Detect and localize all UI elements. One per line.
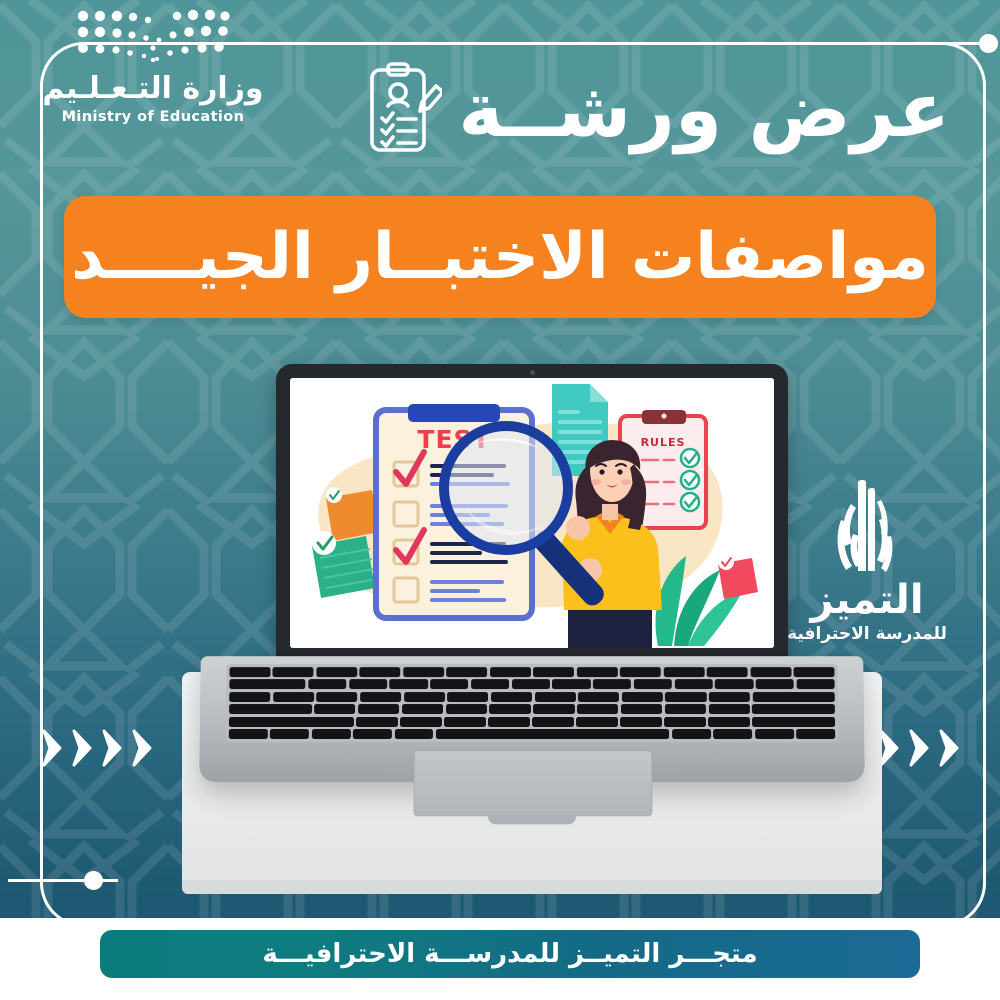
key-caps	[752, 704, 835, 714]
key	[663, 667, 704, 677]
key	[552, 680, 590, 690]
key	[665, 704, 706, 714]
key	[577, 667, 618, 677]
laptop-lid: TEST	[276, 364, 788, 662]
key-shift-right	[229, 717, 354, 727]
main-title: مواصفات الاختبــار الجيــــد	[71, 225, 929, 289]
key	[709, 692, 750, 702]
key	[621, 704, 662, 714]
key-enter	[229, 704, 312, 714]
clipboard-checklist-pencil-icon	[360, 62, 442, 158]
chevron-right-icon	[100, 728, 127, 768]
key	[489, 704, 530, 714]
key	[349, 680, 387, 690]
store-banner: متجـــر التميــز للمدرســـة الاحترافيـــ…	[100, 930, 920, 978]
key	[512, 680, 550, 690]
ministry-of-education-logo: وزارة التـعـلـيم Ministry of Education	[38, 8, 268, 125]
key-ctrl	[755, 729, 794, 739]
key	[620, 717, 662, 727]
key	[674, 680, 712, 690]
keyboard-row	[229, 692, 835, 702]
test-review-illustration: TEST	[290, 378, 774, 648]
chevron-right-icon	[70, 728, 97, 768]
header-title-group: عرض ورشــة	[360, 62, 950, 158]
key	[358, 704, 399, 714]
key	[308, 680, 346, 690]
key	[360, 667, 401, 677]
store-banner-text: متجـــر التميــز للمدرســـة الاحترافيـــ…	[262, 941, 757, 967]
key-tab	[752, 692, 834, 702]
keyboard-row	[229, 717, 835, 727]
key-cmd	[672, 729, 711, 739]
key	[533, 704, 574, 714]
key	[471, 680, 509, 690]
laptop-mockup: TEST	[200, 364, 864, 834]
key	[578, 692, 619, 702]
chevron-right-icon	[40, 728, 67, 768]
key-space	[436, 729, 670, 739]
key	[316, 667, 357, 677]
webcam-icon	[530, 370, 535, 375]
key	[273, 692, 314, 702]
page-title: عرض ورشــة	[458, 72, 950, 148]
key	[430, 680, 468, 690]
key	[273, 667, 314, 677]
key-fn	[796, 729, 835, 739]
frame-line-top-right	[872, 42, 992, 45]
key	[229, 667, 270, 677]
key	[664, 717, 706, 727]
key	[794, 667, 835, 677]
key	[447, 692, 488, 702]
keyboard-row	[229, 704, 835, 714]
key	[404, 692, 445, 702]
laptop-keyboard	[226, 664, 839, 742]
key	[577, 704, 618, 714]
key	[708, 704, 749, 714]
key-alt	[713, 729, 752, 739]
laptop-base	[199, 656, 865, 782]
key	[620, 667, 661, 677]
key	[756, 680, 794, 690]
svg-text:RULES: RULES	[641, 436, 686, 449]
laptop-front-notch	[488, 816, 576, 824]
moe-arabic-name: وزارة التـعـلـيم	[38, 74, 268, 104]
key-cmd-right	[394, 729, 433, 739]
key-shift-left	[752, 717, 835, 727]
key	[356, 717, 398, 727]
key	[707, 667, 748, 677]
key	[488, 717, 530, 727]
key	[593, 680, 631, 690]
frame-dot-bottom-left	[84, 871, 103, 890]
key	[229, 692, 270, 702]
key	[750, 667, 791, 677]
key-arrow-up	[270, 729, 309, 739]
key	[390, 680, 428, 690]
key	[665, 692, 706, 702]
key	[715, 680, 753, 690]
main-title-banner: مواصفات الاختبــار الجيــــد	[64, 196, 936, 318]
chevron-right-icon	[937, 728, 964, 768]
poster-canvas: وزارة التـعـلـيم Ministry of Education ع…	[0, 0, 1000, 1000]
key-arrow-left	[312, 729, 351, 739]
key	[490, 667, 531, 677]
key	[402, 704, 443, 714]
key	[535, 692, 576, 702]
ministry-of-education-dotted-emblem	[73, 8, 233, 70]
chevron-group-left	[40, 728, 157, 768]
key	[314, 704, 355, 714]
key-backspace	[229, 680, 305, 690]
key	[444, 717, 486, 727]
keyboard-row	[229, 729, 835, 739]
key	[403, 667, 444, 677]
key	[360, 692, 401, 702]
frame-dot-top-right	[979, 34, 998, 53]
chevron-right-icon	[130, 728, 157, 768]
key-alt-right	[353, 729, 392, 739]
key	[533, 667, 574, 677]
key	[400, 717, 442, 727]
key-arrow-right	[229, 729, 268, 739]
keyboard-row	[229, 667, 834, 677]
chevron-right-icon	[907, 728, 934, 768]
key	[576, 717, 618, 727]
key	[446, 704, 487, 714]
keyboard-row	[229, 680, 834, 690]
key	[491, 692, 532, 702]
key	[796, 680, 834, 690]
key	[634, 680, 672, 690]
laptop-screen: TEST	[290, 378, 774, 648]
laptop-trackpad	[414, 750, 653, 816]
key	[622, 692, 663, 702]
key	[708, 717, 750, 727]
moe-english-name: Ministry of Education	[38, 109, 268, 125]
key	[532, 717, 574, 727]
key	[446, 667, 487, 677]
key	[316, 692, 357, 702]
